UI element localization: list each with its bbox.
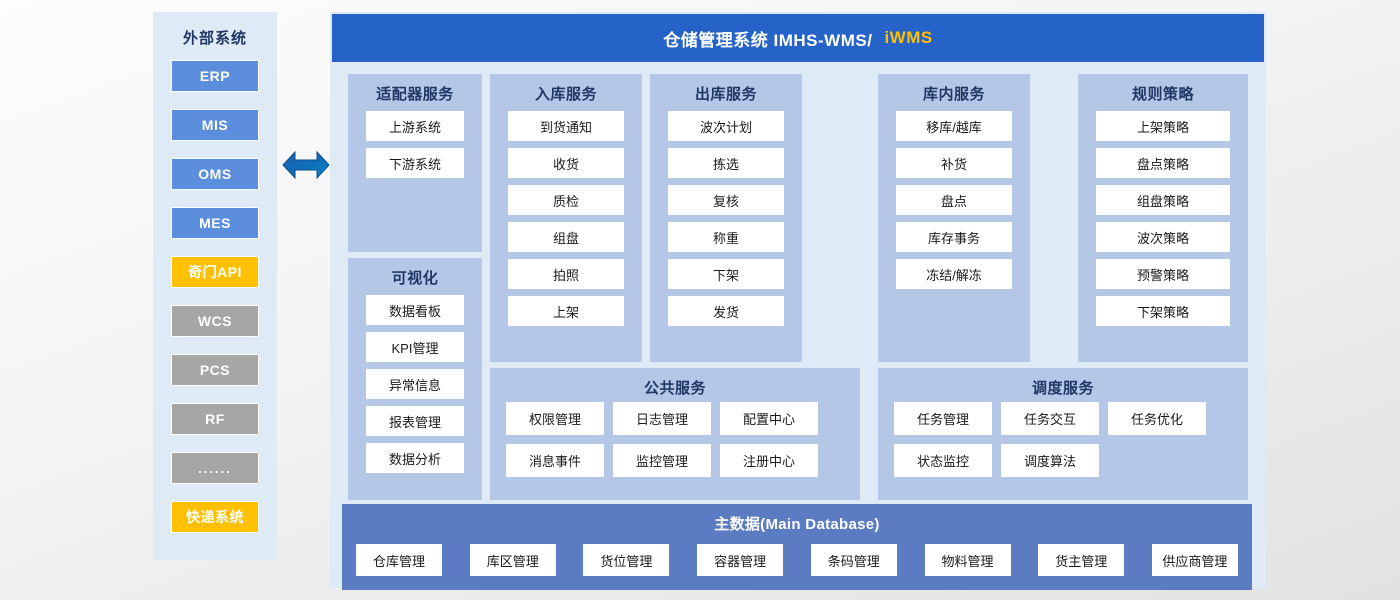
service-chip[interactable]: 注册中心	[720, 444, 818, 477]
service-chip[interactable]: 拍照	[508, 259, 624, 289]
service-chip[interactable]: 下游系统	[366, 148, 464, 178]
service-chip[interactable]: 上架策略	[1096, 111, 1230, 141]
service-chip[interactable]: KPI管理	[366, 332, 464, 362]
wms-title-main: 仓储管理系统 IMHS-WMS/	[663, 26, 872, 51]
service-chip[interactable]: 库区管理	[470, 544, 556, 576]
service-chip[interactable]: 监控管理	[613, 444, 711, 477]
external-systems-title: 外部系统	[183, 27, 247, 48]
service-chip[interactable]: 到货通知	[508, 111, 624, 141]
service-chip[interactable]: 任务优化	[1108, 402, 1206, 435]
service-chip[interactable]: 日志管理	[613, 402, 711, 435]
panel-outbound-title: 出库服务	[650, 74, 802, 104]
panel-inhouse-service: 库内服务 移库/越库补货盘点库存事务冻结/解冻	[878, 74, 1030, 362]
main-database-section: 主数据(Main Database) 仓库管理库区管理货位管理容器管理条码管理物…	[342, 504, 1252, 590]
panel-dispatch-service: 调度服务 任务管理任务交互任务优化状态监控调度算法	[878, 368, 1248, 500]
panel-public-service: 公共服务 权限管理日志管理配置中心消息事件监控管理注册中心	[490, 368, 860, 500]
panel-adapter-items: 上游系统下游系统	[348, 111, 482, 178]
panel-visualization-title: 可视化	[348, 258, 482, 288]
external-system-item[interactable]: ......	[171, 452, 259, 484]
external-system-item[interactable]: 奇门API	[171, 256, 259, 288]
service-chip[interactable]: 组盘	[508, 222, 624, 252]
service-chip[interactable]: 拣选	[668, 148, 784, 178]
service-chip[interactable]: 任务管理	[894, 402, 992, 435]
service-chip[interactable]: 权限管理	[506, 402, 604, 435]
double-arrow-horizontal-icon	[281, 145, 331, 185]
panel-rule-strategy: 规则策略 上架策略盘点策略组盘策略波次策略预警策略下架策略	[1078, 74, 1248, 362]
external-systems-list: ERPMISOMSMES奇门APIWCSPCSRF......快递系统	[171, 60, 259, 550]
panel-inhouse-title: 库内服务	[878, 74, 1030, 104]
panel-adapter-service: 适配器服务 上游系统下游系统	[348, 74, 482, 252]
service-chip[interactable]: 下架策略	[1096, 296, 1230, 326]
service-chip[interactable]: 盘点	[896, 185, 1012, 215]
service-chip[interactable]: 冻结/解冻	[896, 259, 1012, 289]
external-systems-panel: 外部系统 ERPMISOMSMES奇门APIWCSPCSRF......快递系统	[153, 12, 277, 560]
service-chip[interactable]: 移库/越库	[896, 111, 1012, 141]
panel-adapter-title: 适配器服务	[348, 74, 482, 104]
main-database-title: 主数据(Main Database)	[342, 504, 1252, 534]
external-system-item[interactable]: RF	[171, 403, 259, 435]
service-chip[interactable]: 异常信息	[366, 369, 464, 399]
panel-dispatch-service-items: 任务管理任务交互任务优化状态监控调度算法	[878, 398, 1248, 477]
service-chip[interactable]: 复核	[668, 185, 784, 215]
service-chip[interactable]: 仓库管理	[356, 544, 442, 576]
service-chip[interactable]: 质检	[508, 185, 624, 215]
service-chip[interactable]: 收货	[508, 148, 624, 178]
main-database-items: 仓库管理库区管理货位管理容器管理条码管理物料管理货主管理供应商管理	[342, 534, 1252, 576]
external-system-item[interactable]: PCS	[171, 354, 259, 386]
service-chip[interactable]: 数据看板	[366, 295, 464, 325]
service-chip[interactable]: 报表管理	[366, 406, 464, 436]
panel-public-service-title: 公共服务	[490, 368, 860, 398]
wms-header-title: 仓储管理系统 IMHS-WMS/ iWMS	[332, 14, 1264, 62]
external-system-item[interactable]: MIS	[171, 109, 259, 141]
service-chip[interactable]: 货主管理	[1038, 544, 1124, 576]
service-chip[interactable]: 调度算法	[1001, 444, 1099, 477]
panel-inbound-title: 入库服务	[490, 74, 642, 104]
service-chip[interactable]: 下架	[668, 259, 784, 289]
service-chip[interactable]: 供应商管理	[1152, 544, 1238, 576]
service-chip[interactable]: 补货	[896, 148, 1012, 178]
panel-dispatch-service-title: 调度服务	[878, 368, 1248, 398]
service-chip[interactable]: 上游系统	[366, 111, 464, 141]
panel-inbound-service: 入库服务 到货通知收货质检组盘拍照上架	[490, 74, 642, 362]
service-chip[interactable]: 波次策略	[1096, 222, 1230, 252]
service-chip[interactable]: 称重	[668, 222, 784, 252]
panel-rule-strategy-items: 上架策略盘点策略组盘策略波次策略预警策略下架策略	[1078, 111, 1248, 326]
panel-inbound-items: 到货通知收货质检组盘拍照上架	[490, 111, 642, 326]
panel-outbound-items: 波次计划拣选复核称重下架发货	[650, 111, 802, 326]
external-system-item[interactable]: MES	[171, 207, 259, 239]
panel-visualization-items: 数据看板KPI管理异常信息报表管理数据分析	[348, 295, 482, 473]
panel-inhouse-items: 移库/越库补货盘点库存事务冻结/解冻	[878, 111, 1030, 289]
external-system-item[interactable]: ERP	[171, 60, 259, 92]
service-chip[interactable]: 盘点策略	[1096, 148, 1230, 178]
service-chip[interactable]: 容器管理	[697, 544, 783, 576]
external-system-item[interactable]: OMS	[171, 158, 259, 190]
service-chip[interactable]: 上架	[508, 296, 624, 326]
service-chip[interactable]: 组盘策略	[1096, 185, 1230, 215]
panel-visualization: 可视化 数据看板KPI管理异常信息报表管理数据分析	[348, 258, 482, 500]
service-chip[interactable]: 配置中心	[720, 402, 818, 435]
panel-public-service-items: 权限管理日志管理配置中心消息事件监控管理注册中心	[490, 398, 860, 477]
service-chip[interactable]: 发货	[668, 296, 784, 326]
service-chip[interactable]: 任务交互	[1001, 402, 1099, 435]
service-chip[interactable]: 状态监控	[894, 444, 992, 477]
service-chip[interactable]: 条码管理	[811, 544, 897, 576]
wms-title-accent: iWMS	[884, 28, 932, 48]
service-chip[interactable]: 数据分析	[366, 443, 464, 473]
service-chip[interactable]: 货位管理	[583, 544, 669, 576]
panel-outbound-service: 出库服务 波次计划拣选复核称重下架发货	[650, 74, 802, 362]
service-chip[interactable]: 库存事务	[896, 222, 1012, 252]
external-system-item[interactable]: WCS	[171, 305, 259, 337]
wms-container: 仓储管理系统 IMHS-WMS/ iWMS 适配器服务 上游系统下游系统 可视化…	[330, 12, 1266, 588]
external-system-item[interactable]: 快递系统	[171, 501, 259, 533]
panel-rule-strategy-title: 规则策略	[1078, 74, 1248, 104]
service-chip[interactable]: 预警策略	[1096, 259, 1230, 289]
service-chip[interactable]: 消息事件	[506, 444, 604, 477]
service-chip[interactable]: 波次计划	[668, 111, 784, 141]
service-chip[interactable]: 物料管理	[925, 544, 1011, 576]
architecture-diagram: 外部系统 ERPMISOMSMES奇门APIWCSPCSRF......快递系统…	[0, 0, 1400, 600]
